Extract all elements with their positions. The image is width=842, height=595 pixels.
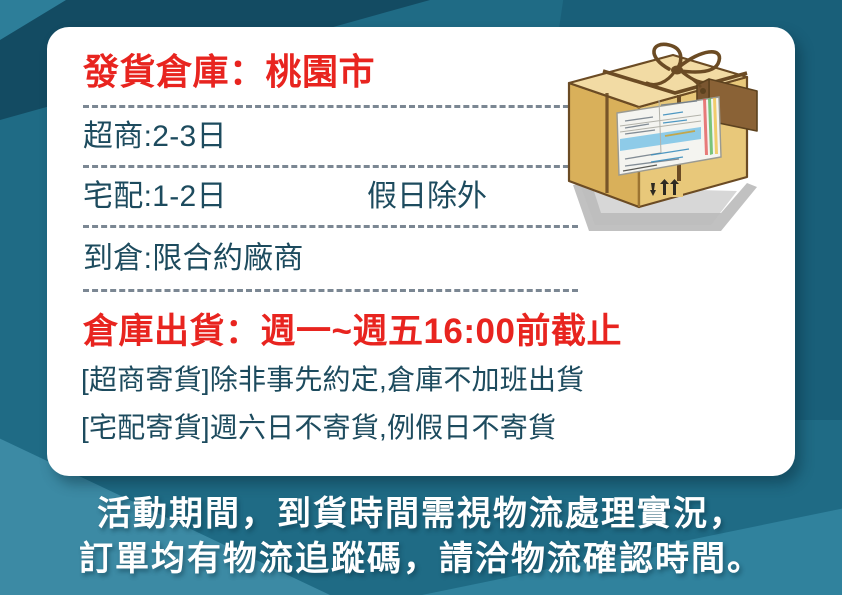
warehouse-headline: 發貨倉庫：桃園市 — [83, 49, 375, 95]
row-home-delivery: 宅配:1-2日 — [83, 177, 227, 217]
row-home-delivery-note: 假日除外 — [367, 177, 487, 217]
footer-line-2: 訂單均有物流追蹤碼，請洽物流確認時間。 — [0, 537, 842, 582]
row-convenience-store: 超商:2-3日 — [83, 117, 227, 157]
row-warehouse-receiving: 到倉:限合約廠商 — [83, 239, 304, 279]
footer-note: 活動期間，到貨時間需視物流處理實況， 訂單均有物流追蹤碼，請洽物流確認時間。 — [0, 492, 842, 582]
divider-4 — [83, 289, 578, 292]
info-card: 發貨倉庫：桃園市 超商:2-3日 宅配:1-2日 假日除外 到倉:限合約廠商 倉… — [47, 27, 795, 476]
parcel-illustration — [551, 35, 781, 250]
divider-2 — [83, 165, 578, 168]
banner-stage: 發貨倉庫：桃園市 超商:2-3日 宅配:1-2日 假日除外 到倉:限合約廠商 倉… — [0, 0, 842, 595]
fineprint-convenience-store: [超商寄貨]除非事先約定,倉庫不加班出貨 — [81, 361, 584, 399]
dispatch-headline: 倉庫出貨：週一~週五16:00前截止 — [83, 309, 622, 355]
divider-1 — [83, 105, 578, 108]
fineprint-home-delivery: [宅配寄貨]週六日不寄貨,例假日不寄貨 — [81, 409, 556, 447]
divider-3 — [83, 225, 578, 228]
footer-line-1: 活動期間，到貨時間需視物流處理實況， — [0, 492, 842, 537]
